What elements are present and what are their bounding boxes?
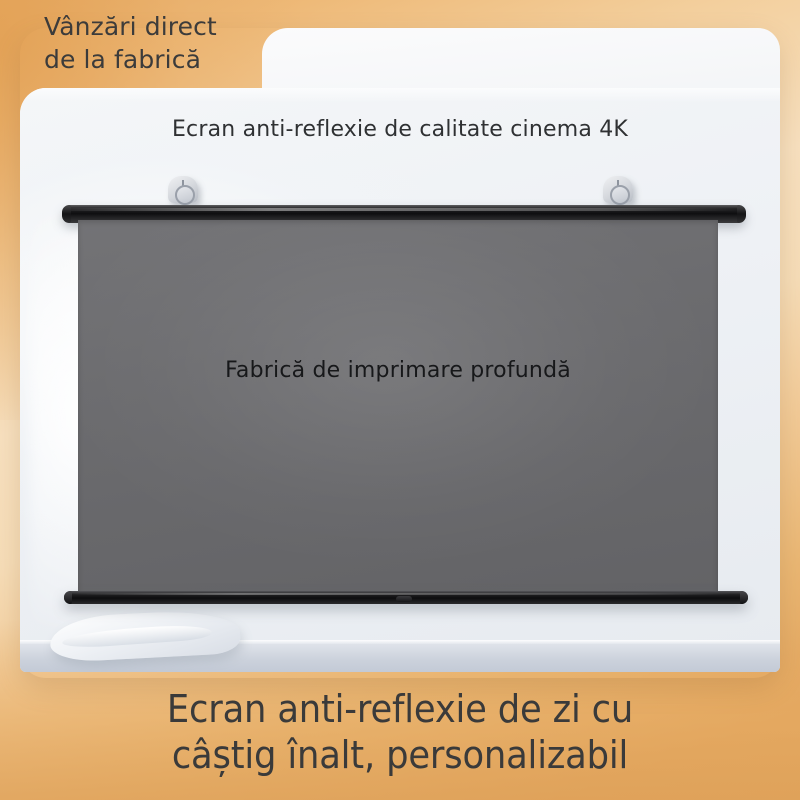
screen-bottom-rod-cap-left <box>64 591 72 604</box>
product-photo-card: Fabrică de imprimare profundă <box>20 88 780 672</box>
screen-bottom-rod-knob <box>396 596 412 602</box>
projection-screen-surface: Fabrică de imprimare profundă <box>78 220 718 597</box>
bottom-marketing-copy: Ecran anti-reflexie de zi cu câștig înal… <box>28 686 772 779</box>
bottom-line-2: câștig înalt, personalizabil <box>28 732 772 778</box>
screen-top-rod-cap-right <box>737 205 746 223</box>
product-banner: Vânzări direct de la fabrică <box>0 0 800 800</box>
bottom-line-1: Ecran anti-reflexie de zi cu <box>28 686 772 732</box>
screen-bottom-rod-highlight <box>72 593 732 595</box>
card-heading: Ecran anti-reflexie de calitate cinema 4… <box>0 117 800 142</box>
screen-caption: Fabrică de imprimare profundă <box>78 358 718 383</box>
screen-bottom-rod-cap-right <box>740 591 748 604</box>
screen-assembly: Fabrică de imprimare profundă <box>20 88 780 672</box>
screen-top-rod-cap-left <box>62 205 71 223</box>
screen-top-rod-highlight <box>70 208 738 211</box>
